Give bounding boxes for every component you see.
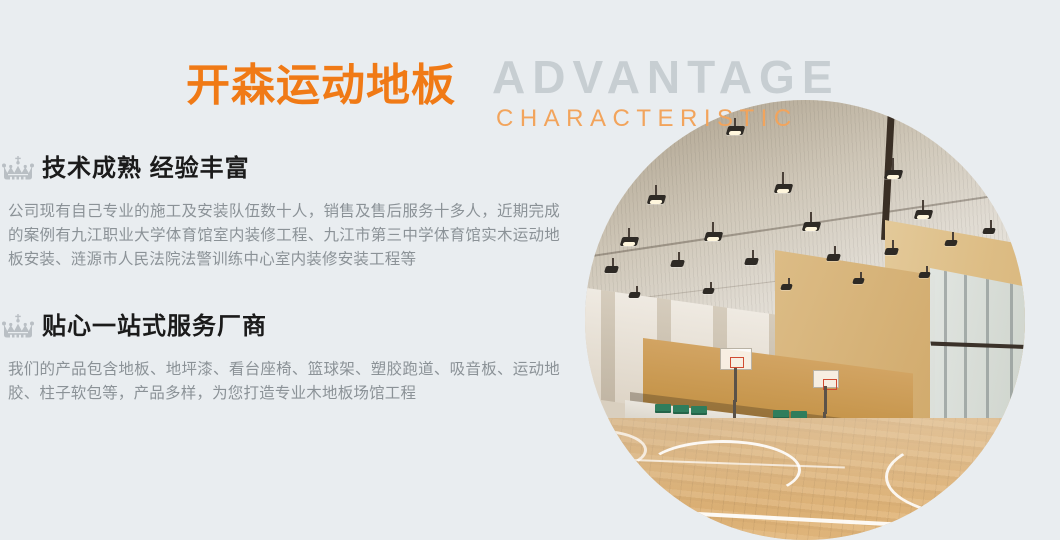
- feature-body-text: 公司现有自己专业的施工及安装队伍数十人，销售及售后服务十多人，近期完成的案例有九…: [0, 200, 560, 272]
- gym-photo: [585, 100, 1025, 540]
- crown-icon: [2, 314, 34, 340]
- gym-illustration: [585, 100, 1025, 540]
- feature-heading: 贴心一站式服务厂商: [42, 315, 267, 339]
- features-list: 技术成熟 经验丰富 公司现有自己专业的施工及安装队伍数十人，销售及售后服务十多人…: [0, 150, 580, 406]
- feature-item: 贴心一站式服务厂商 我们的产品包含地板、地坪漆、看台座椅、篮球架、塑胶跑道、吸音…: [0, 308, 580, 406]
- feature-body-text: 我们的产品包含地板、地坪漆、看台座椅、篮球架、塑胶跑道、吸音板、运动地胶、柱子软…: [0, 358, 560, 406]
- advantage-banner: ADVANTAGE CHARACTERISTIC 开森运动地板: [0, 0, 1060, 540]
- feature-heading-row: 技术成熟 经验丰富: [0, 150, 580, 188]
- feature-heading: 技术成熟 经验丰富: [42, 157, 250, 181]
- title-english-large: ADVANTAGE: [492, 54, 840, 100]
- court-arc: [645, 440, 801, 500]
- bleacher-seat: [673, 405, 689, 414]
- bleacher-seat: [655, 404, 671, 413]
- bleacher-seat: [691, 406, 707, 415]
- feature-item: 技术成熟 经验丰富 公司现有自己专业的施工及安装队伍数十人，销售及售后服务十多人…: [0, 150, 580, 272]
- title-chinese: 开森运动地板: [186, 64, 456, 108]
- crown-icon: [2, 156, 34, 182]
- feature-heading-row: 贴心一站式服务厂商: [0, 308, 580, 346]
- title-english-small: CHARACTERISTIC: [496, 107, 798, 131]
